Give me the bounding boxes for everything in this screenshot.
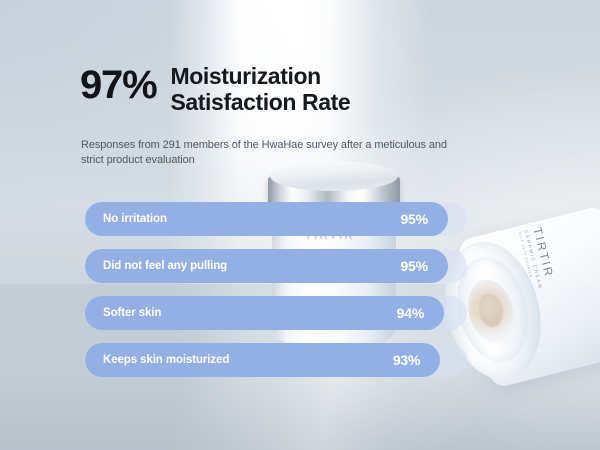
bar-label: No irritation (103, 213, 167, 225)
bar-fill: Did not feel any pulling 95% (85, 249, 448, 283)
bar-value: 95% (400, 211, 427, 227)
stat-number: 97% (80, 62, 156, 108)
bar-row: Keeps skin moisturized 93% (85, 343, 467, 377)
bar-value: 95% (400, 258, 427, 274)
headline-block: 97% Moisturization Satisfaction Rate (80, 62, 350, 115)
bar-label: Keeps skin moisturized (103, 354, 229, 366)
bar-row: Softer skin 94% (85, 296, 467, 330)
page-title: Moisturization Satisfaction Rate (170, 62, 350, 115)
page-title-line-1: Moisturization (170, 63, 350, 89)
subtitle-text: Responses from 291 members of the HwaHae… (81, 138, 451, 168)
bar-row: No irritation 95% (85, 202, 467, 236)
bar-label: Softer skin (103, 307, 161, 319)
bar-fill: Softer skin 94% (85, 296, 444, 330)
bar-row: Did not feel any pulling 95% (85, 249, 467, 283)
bar-value: 94% (397, 305, 424, 321)
bar-chart: No irritation 95% Did not feel any pulli… (85, 202, 467, 390)
page-title-line-2: Satisfaction Rate (170, 89, 350, 115)
bar-value: 93% (393, 352, 420, 368)
bar-fill: Keeps skin moisturized 93% (85, 343, 440, 377)
infographic-canvas: TIRTIR CERAMIC CREAM TIRTIR CERAMIC CREA… (0, 0, 600, 450)
bar-label: Did not feel any pulling (103, 260, 227, 272)
bar-fill: No irritation 95% (85, 202, 448, 236)
